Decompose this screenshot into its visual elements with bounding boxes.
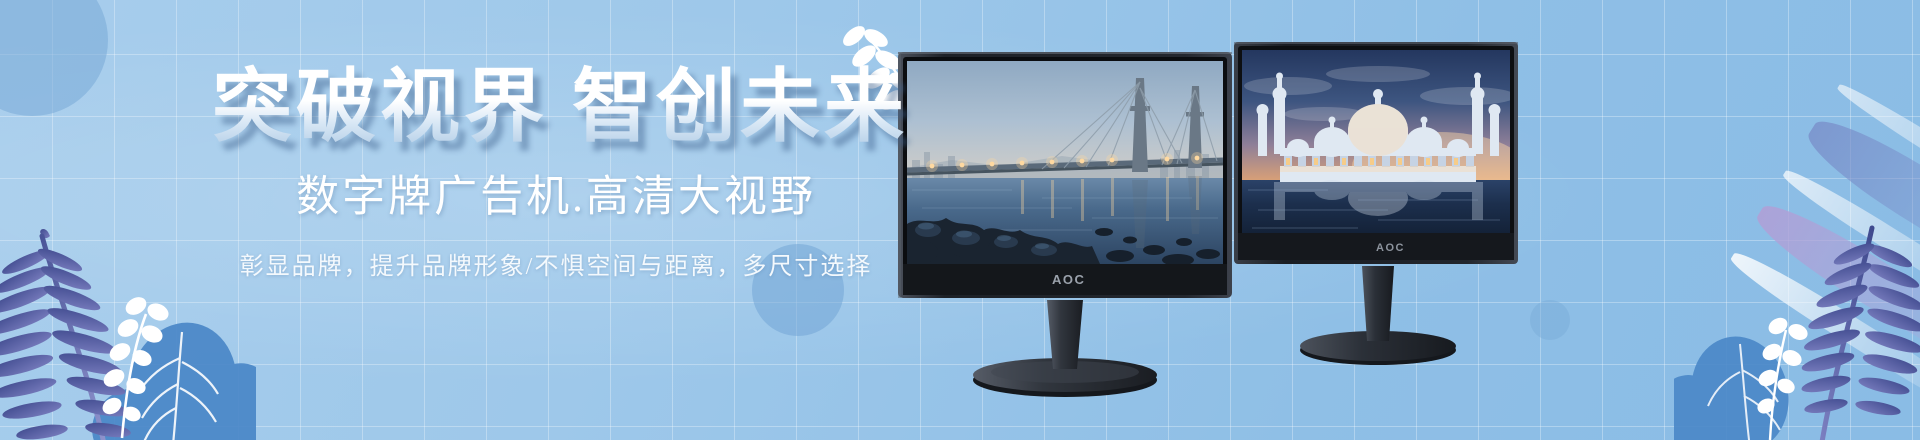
decorative-circle-top-left <box>0 0 108 116</box>
monitor-front: AOC <box>892 48 1262 398</box>
banner-text-block: 突破视界 智创未来 数字牌广告机.高清大视野 彰显品牌，提升品牌形象/不惧空间与… <box>196 60 916 284</box>
banner-subtitle: 数字牌广告机.高清大视野 <box>196 170 916 226</box>
banner-tagline: 彰显品牌，提升品牌形象/不惧空间与距离，多尺寸选择 <box>196 250 916 284</box>
promo-banner: AOC <box>0 0 1920 440</box>
fern-leaf-right-icon <box>1674 180 1920 440</box>
brand-logo-front: AOC <box>1052 272 1085 287</box>
light-streak-ribbon <box>1704 0 1920 440</box>
page-title: 突破视界 智创未来 <box>204 60 916 156</box>
monitor-back: AOC <box>1228 38 1548 368</box>
brand-logo-back: AOC <box>1376 242 1405 254</box>
